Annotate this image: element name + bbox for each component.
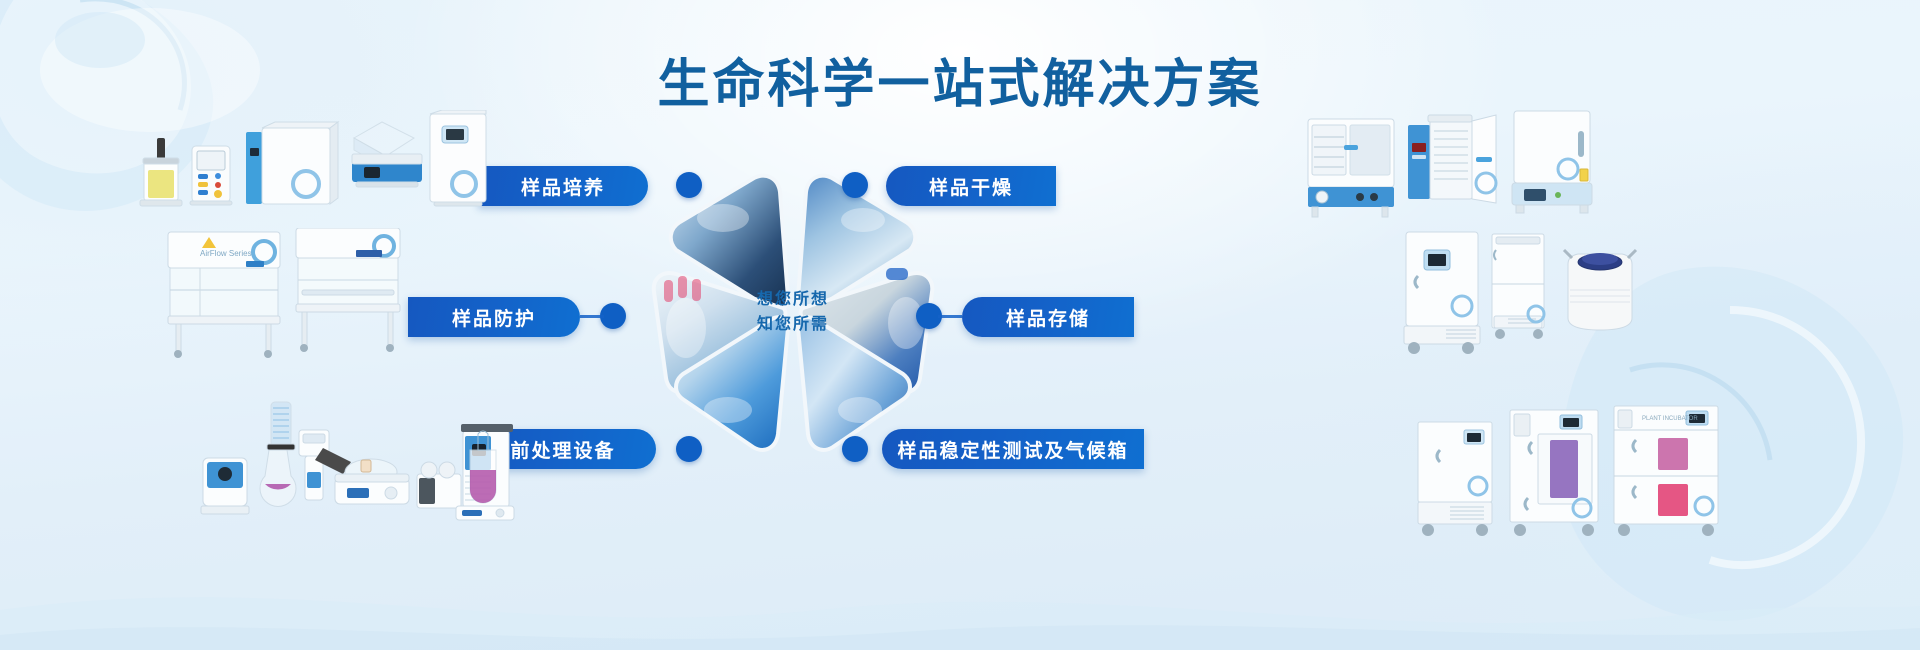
category-pill-sample-protection[interactable]: 样品防护 [408,297,580,337]
connector-dot-cultivation [676,172,702,198]
category-label-pretreatment-equipment: 前处理设备 [510,436,615,463]
category-label-sample-storage: 样品存储 [1006,304,1090,331]
equipment-cluster-storage [1400,228,1690,358]
plant-incubator-label: PLANT INCUBATOR [1642,416,1698,422]
life-science-banner: 生命科学一站式解决方案 [0,0,1920,650]
equipment-cluster-stability: PLANT INCUBATOR [1410,398,1740,546]
decorative-bottom-wave [0,540,1920,650]
equipment-magnetic-stirrer [448,430,524,530]
category-label-sample-protection: 样品防护 [452,304,536,331]
category-pill-stability-testing[interactable]: 样品稳定性测试及气候箱 [882,429,1144,469]
equipment-cluster-cultivation [130,110,490,225]
category-pill-sample-cultivation[interactable]: 样品培养 [478,166,648,206]
connector-dot-stability [842,436,868,462]
category-pill-sample-storage[interactable]: 样品存储 [962,297,1134,337]
airflow-series-label: AirFlow Series [200,249,252,258]
category-label-sample-cultivation: 样品培养 [521,173,605,200]
connector-dot-drying [842,172,868,198]
connector-line-protection [580,315,604,318]
category-pill-sample-drying[interactable]: 样品干燥 [886,166,1056,206]
connector-line-storage [938,315,962,318]
equipment-cluster-protection: AirFlow Series [160,228,420,360]
connector-dot-pretreatment [676,436,702,462]
page-title: 生命科学一站式解决方案 [0,42,1920,117]
category-label-stability-testing: 样品稳定性测试及气候箱 [898,436,1129,463]
category-label-sample-drying: 样品干燥 [929,173,1013,200]
equipment-cluster-drying [1300,105,1600,223]
